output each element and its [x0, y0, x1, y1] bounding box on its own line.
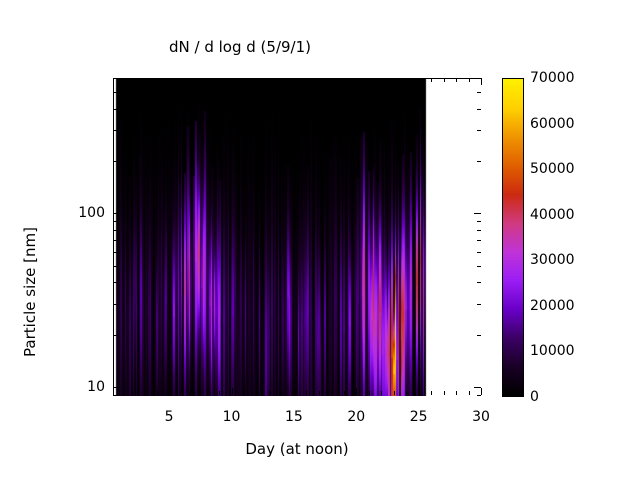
- axis-tick: [331, 391, 332, 395]
- x-axis-label: Day (at noon): [113, 440, 481, 458]
- axis-tick: [169, 388, 170, 395]
- axis-tick: [477, 335, 481, 336]
- axis-tick: [281, 391, 282, 395]
- axis-tick: [294, 388, 295, 395]
- axis-tick: [113, 240, 117, 241]
- axis-tick: [113, 387, 120, 388]
- colorbar: [502, 78, 524, 397]
- axis-tick: [474, 213, 481, 214]
- axis-tick: [431, 391, 432, 395]
- colorbar-tick-label: 50000: [530, 161, 575, 177]
- axis-tick: [194, 78, 195, 82]
- axis-tick: [344, 78, 345, 82]
- colorbar-tick-label: 70000: [530, 70, 575, 86]
- axis-tick: [113, 213, 120, 214]
- axis-tick: [477, 221, 481, 222]
- axis-tick: [219, 78, 220, 82]
- axis-tick: [306, 78, 307, 82]
- axis-tick: [444, 78, 445, 82]
- axis-tick: [113, 109, 117, 110]
- axis-tick: [132, 391, 133, 395]
- axis-tick: [207, 391, 208, 395]
- axis-tick: [477, 161, 481, 162]
- axis-tick: [356, 78, 357, 85]
- axis-tick: [394, 78, 395, 82]
- axis-tick: [119, 78, 120, 82]
- figure-root: dN / d log d (5/9/1) 5101520253010100 Da…: [0, 0, 640, 480]
- axis-tick: [113, 304, 117, 305]
- axis-tick: [269, 78, 270, 82]
- axis-tick: [281, 78, 282, 82]
- axis-tick: [477, 304, 481, 305]
- axis-tick: [157, 78, 158, 82]
- axis-tick: [144, 391, 145, 395]
- x-tick-label: 25: [410, 409, 428, 425]
- axis-tick: [406, 78, 407, 82]
- colorbar-tick-label: 20000: [530, 298, 575, 314]
- y-tick-label: 10: [65, 379, 105, 395]
- axis-tick: [113, 161, 117, 162]
- colorbar-tick-label: 60000: [530, 116, 575, 132]
- axis-tick: [113, 221, 117, 222]
- axis-tick: [113, 92, 117, 93]
- axis-tick: [477, 266, 481, 267]
- y-axis-label: Particle size [nm]: [21, 192, 39, 392]
- axis-tick: [144, 78, 145, 82]
- axis-tick: [474, 387, 481, 388]
- axis-tick: [369, 78, 370, 82]
- axis-tick: [394, 391, 395, 395]
- axis-tick: [381, 78, 382, 82]
- plot-area: [113, 78, 481, 395]
- colorbar-tick-label: 0: [530, 389, 539, 405]
- axis-tick: [294, 78, 295, 85]
- axis-tick: [419, 388, 420, 395]
- x-tick-label: 30: [472, 409, 490, 425]
- axis-tick: [194, 391, 195, 395]
- chart-title: dN / d log d (5/9/1): [0, 38, 480, 56]
- colorbar-gradient: [503, 79, 523, 396]
- axis-tick: [431, 78, 432, 82]
- axis-tick: [481, 388, 482, 395]
- axis-tick: [113, 130, 117, 131]
- x-tick-label: 15: [285, 409, 303, 425]
- axis-tick: [232, 78, 233, 85]
- axis-tick: [169, 78, 170, 85]
- axis-tick: [477, 252, 481, 253]
- axis-tick: [157, 391, 158, 395]
- axis-tick: [113, 252, 117, 253]
- x-tick-label: 5: [165, 409, 174, 425]
- axis-tick: [244, 78, 245, 82]
- axis-tick: [113, 335, 117, 336]
- axis-tick: [477, 92, 481, 93]
- axis-tick: [219, 391, 220, 395]
- axis-tick: [477, 240, 481, 241]
- colorbar-tick-label: 40000: [530, 207, 575, 223]
- axis-tick: [419, 78, 420, 85]
- axis-tick: [244, 391, 245, 395]
- axis-tick: [182, 391, 183, 395]
- axis-tick: [113, 266, 117, 267]
- axis-tick: [477, 109, 481, 110]
- axis-tick: [132, 78, 133, 82]
- axis-tick: [477, 395, 481, 396]
- axis-tick: [356, 388, 357, 395]
- axis-tick: [306, 391, 307, 395]
- axis-tick: [481, 78, 482, 85]
- heatmap-canvas: [114, 79, 482, 396]
- axis-tick: [119, 391, 120, 395]
- axis-tick: [406, 391, 407, 395]
- axis-tick: [319, 78, 320, 82]
- axis-tick: [269, 391, 270, 395]
- axis-tick: [381, 391, 382, 395]
- x-tick-label: 20: [347, 409, 365, 425]
- axis-tick: [319, 391, 320, 395]
- axis-tick: [477, 282, 481, 283]
- axis-tick: [256, 78, 257, 82]
- axis-tick: [477, 130, 481, 131]
- y-tick-label: 100: [65, 205, 105, 221]
- axis-tick: [232, 388, 233, 395]
- axis-tick: [113, 230, 117, 231]
- axis-tick: [182, 78, 183, 82]
- axis-tick: [331, 78, 332, 82]
- axis-tick: [456, 78, 457, 82]
- axis-tick: [113, 282, 117, 283]
- axis-tick: [477, 230, 481, 231]
- axis-tick: [344, 391, 345, 395]
- colorbar-tick-label: 10000: [530, 343, 575, 359]
- x-tick-label: 10: [223, 409, 241, 425]
- axis-tick: [369, 391, 370, 395]
- axis-tick: [256, 391, 257, 395]
- axis-tick: [207, 78, 208, 82]
- axis-tick: [469, 78, 470, 82]
- axis-tick: [113, 395, 117, 396]
- axis-tick: [456, 391, 457, 395]
- colorbar-tick-label: 30000: [530, 252, 575, 268]
- axis-tick: [469, 391, 470, 395]
- axis-tick: [444, 391, 445, 395]
